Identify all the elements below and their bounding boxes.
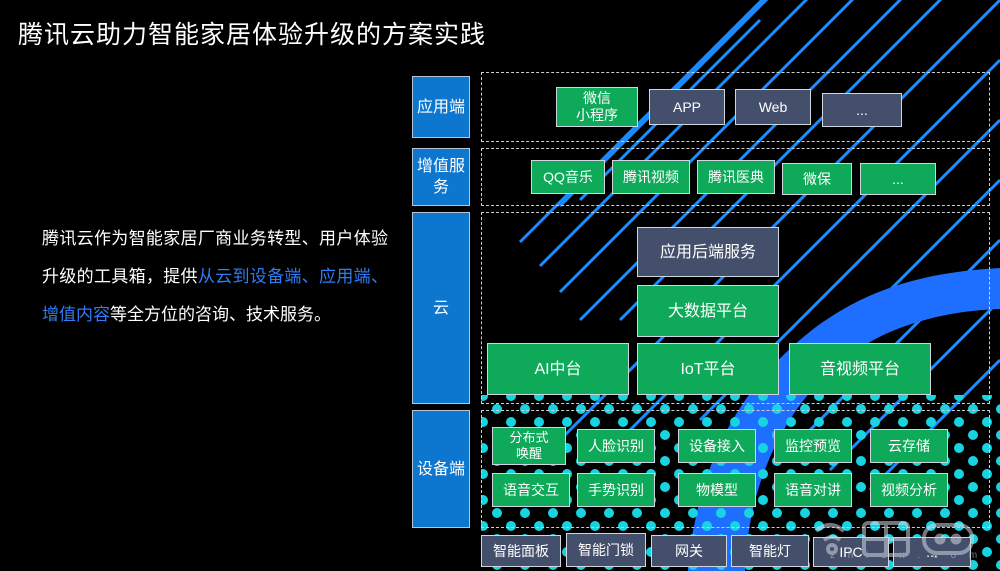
band-label-value-added: 增值服务	[412, 148, 470, 206]
chip-cloud-storage[interactable]: 云存储	[870, 429, 948, 463]
chip-thing-model[interactable]: 物模型	[678, 473, 756, 507]
band-label-device: 设备端	[412, 410, 470, 528]
chip-value-more[interactable]: ...	[860, 163, 936, 195]
architecture-diagram: 应用端 微信 小程序 APP Web ... 增值服务 QQ音乐 腾讯视频 腾讯…	[412, 72, 990, 532]
chip-app-backend-service[interactable]: 应用后端服务	[637, 227, 779, 277]
chip-av-platform[interactable]: 音视频平台	[789, 343, 931, 395]
slide-canvas: 腾讯云助力智能家居体验升级的方案实践 腾讯云作为智能家居厂商业务转型、用户体验升…	[0, 0, 1000, 571]
band-body-value-added: QQ音乐 腾讯视频 腾讯医典 微保 ...	[481, 148, 990, 206]
chip-smart-lock[interactable]: 智能门锁	[566, 533, 646, 567]
chip-bigdata-platform[interactable]: 大数据平台	[637, 285, 779, 337]
band-device: 设备端 分布式 唤醒 人脸识别 设备接入 监控预览 云存储 语音交互 手势识别 …	[412, 410, 990, 528]
band-label-cloud: 云	[412, 212, 470, 404]
band-label-app: 应用端	[412, 76, 470, 138]
chip-device-access[interactable]: 设备接入	[678, 429, 756, 463]
chip-smart-light[interactable]: 智能灯	[731, 535, 809, 567]
chip-voice-interaction[interactable]: 语音交互	[492, 473, 570, 507]
intro-text-part2: 等全方位的咨询、技术服务。	[110, 305, 331, 324]
chip-voice-intercom[interactable]: 语音对讲	[774, 473, 852, 507]
chip-ipc[interactable]: IPC	[813, 537, 889, 567]
band-body-device: 分布式 唤醒 人脸识别 设备接入 监控预览 云存储 语音交互 手势识别 物模型 …	[481, 410, 990, 528]
band-value: 增值服务 QQ音乐 腾讯视频 腾讯医典 微保 ...	[412, 148, 990, 206]
chip-weibao[interactable]: 微保	[782, 163, 852, 195]
chip-wechat-miniprogram[interactable]: 微信 小程序	[556, 87, 638, 127]
band-body-app: 微信 小程序 APP Web ...	[481, 72, 990, 142]
chip-monitor-preview[interactable]: 监控预览	[774, 429, 852, 463]
chip-app-more[interactable]: ...	[822, 93, 902, 127]
chip-tencent-medipedia[interactable]: 腾讯医典	[697, 160, 775, 194]
chip-face-recognition[interactable]: 人脸识别	[577, 429, 655, 463]
chip-smart-panel[interactable]: 智能面板	[481, 535, 561, 567]
chip-device-more[interactable]: ...	[893, 537, 971, 567]
intro-paragraph: 腾讯云作为智能家居厂商业务转型、用户体验升级的工具箱，提供从云到设备端、应用端、…	[42, 220, 388, 334]
chip-web[interactable]: Web	[735, 89, 811, 125]
chip-qq-music[interactable]: QQ音乐	[531, 160, 605, 194]
chip-gateway[interactable]: 网关	[651, 535, 727, 567]
band-app: 应用端 微信 小程序 APP Web ...	[412, 72, 990, 142]
page-title: 腾讯云助力智能家居体验升级的方案实践	[18, 18, 486, 52]
band-cloud: 云 应用后端服务 大数据平台 AI中台 IoT平台 音视频平台	[412, 212, 990, 404]
chip-video-analysis[interactable]: 视频分析	[870, 473, 948, 507]
chip-iot-platform[interactable]: IoT平台	[637, 343, 779, 395]
chip-ai-platform[interactable]: AI中台	[487, 343, 629, 395]
device-hardware-strip: 智能面板 智能门锁 网关 智能灯 IPC ...	[481, 531, 1000, 567]
chip-app[interactable]: APP	[649, 89, 725, 125]
chip-gesture-recognition[interactable]: 手势识别	[577, 473, 655, 507]
band-body-cloud: 应用后端服务 大数据平台 AI中台 IoT平台 音视频平台	[481, 212, 990, 404]
chip-distributed-wakeup[interactable]: 分布式 唤醒	[492, 427, 566, 465]
chip-tencent-video[interactable]: 腾讯视频	[612, 160, 690, 194]
